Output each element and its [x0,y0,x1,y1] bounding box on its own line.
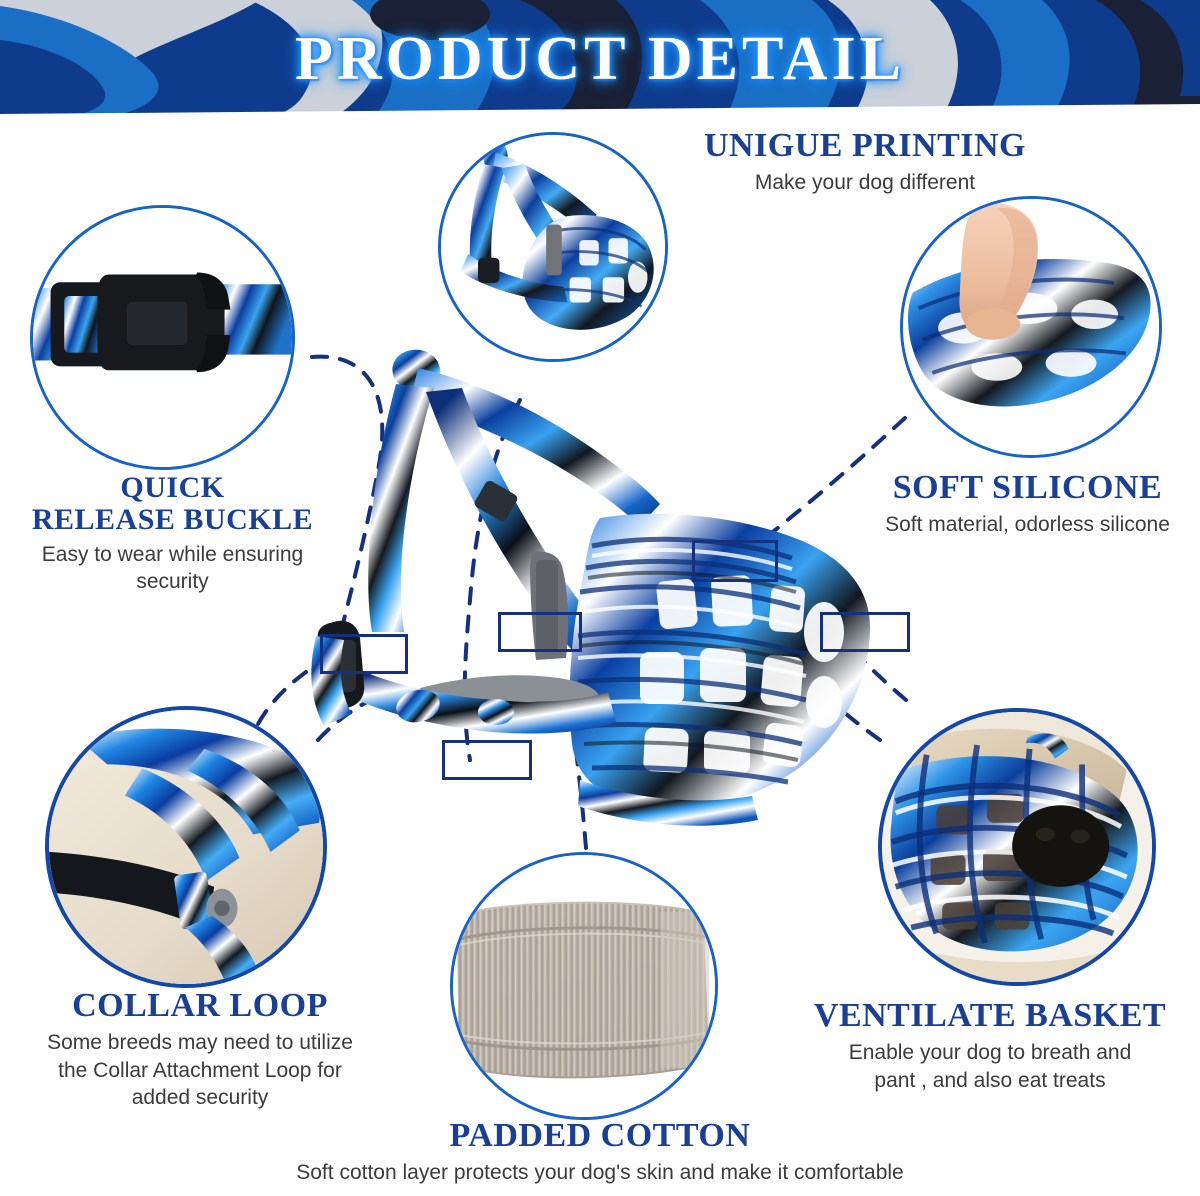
unique-printing-photo [438,132,668,362]
ventilate-basket-photo [878,708,1156,986]
ventilate-basket-label: VENTILATE BASKET Enable your dog to brea… [780,998,1200,1094]
ventilate-basket-desc-line1: Enable your dog to breath and [780,1039,1200,1067]
ventilate-basket-illustration [882,712,1152,982]
product-image [300,340,880,860]
quick-release-desc-line1: Easy to wear while ensuring [0,541,345,569]
padded-cotton-title: PADDED COTTON [260,1118,940,1154]
highlight-basket-right [820,612,910,652]
ventilate-basket-title: VENTILATE BASKET [780,998,1200,1034]
collar-loop-desc-line3: added security [10,1084,390,1112]
soft-silicone-title: SOFT SILICONE [855,470,1200,506]
soft-silicone-label: SOFT SILICONE Soft material, odorless si… [855,470,1200,539]
collar-loop-desc-line2: the Collar Attachment Loop for [10,1057,390,1085]
padded-cotton-label: PADDED COTTON Soft cotton layer protects… [260,1118,940,1187]
header-banner: PRODUCT DETAIL [0,0,1200,120]
quick-release-title-line1: QUICK [0,472,345,504]
highlight-buckle [320,634,408,674]
collar-loop-illustration [49,710,323,984]
unique-printing-label: UNIGUE PRINTING Make your dog different [660,128,1070,197]
quick-release-buckle-photo [30,205,295,470]
collar-loop-desc-line1: Some breeds may need to utilize [10,1029,390,1057]
finger-press-silicone-illustration [903,199,1159,455]
padded-cotton-desc: Soft cotton layer protects your dog's sk… [260,1159,940,1187]
collar-loop-label: COLLAR LOOP Some breeds may need to util… [10,988,390,1112]
collar-loop-title: COLLAR LOOP [10,988,390,1024]
collar-loop-photo [45,706,327,988]
highlight-padded-cotton [498,612,582,652]
padded-cotton-illustration [453,855,715,1117]
highlight-collar-loop [442,740,532,780]
page-title: PRODUCT DETAIL [0,0,1200,118]
unique-printing-title: UNIGUE PRINTING [660,128,1070,164]
highlight-basket-top [692,540,778,582]
buckle-illustration [33,208,292,467]
quick-release-title-line2: RELEASE BUCKLE [0,504,345,536]
ventilate-basket-desc-line2: pant , and also eat treats [780,1067,1200,1095]
quick-release-desc-line2: security [0,568,345,596]
soft-silicone-desc: Soft material, odorless silicone [855,511,1200,539]
quick-release-buckle-label: QUICK RELEASE BUCKLE Easy to wear while … [0,472,345,596]
soft-silicone-photo [900,196,1162,458]
muzzle-product-illustration [441,135,665,359]
unique-printing-desc: Make your dog different [660,169,1070,197]
padded-cotton-photo [450,852,718,1120]
